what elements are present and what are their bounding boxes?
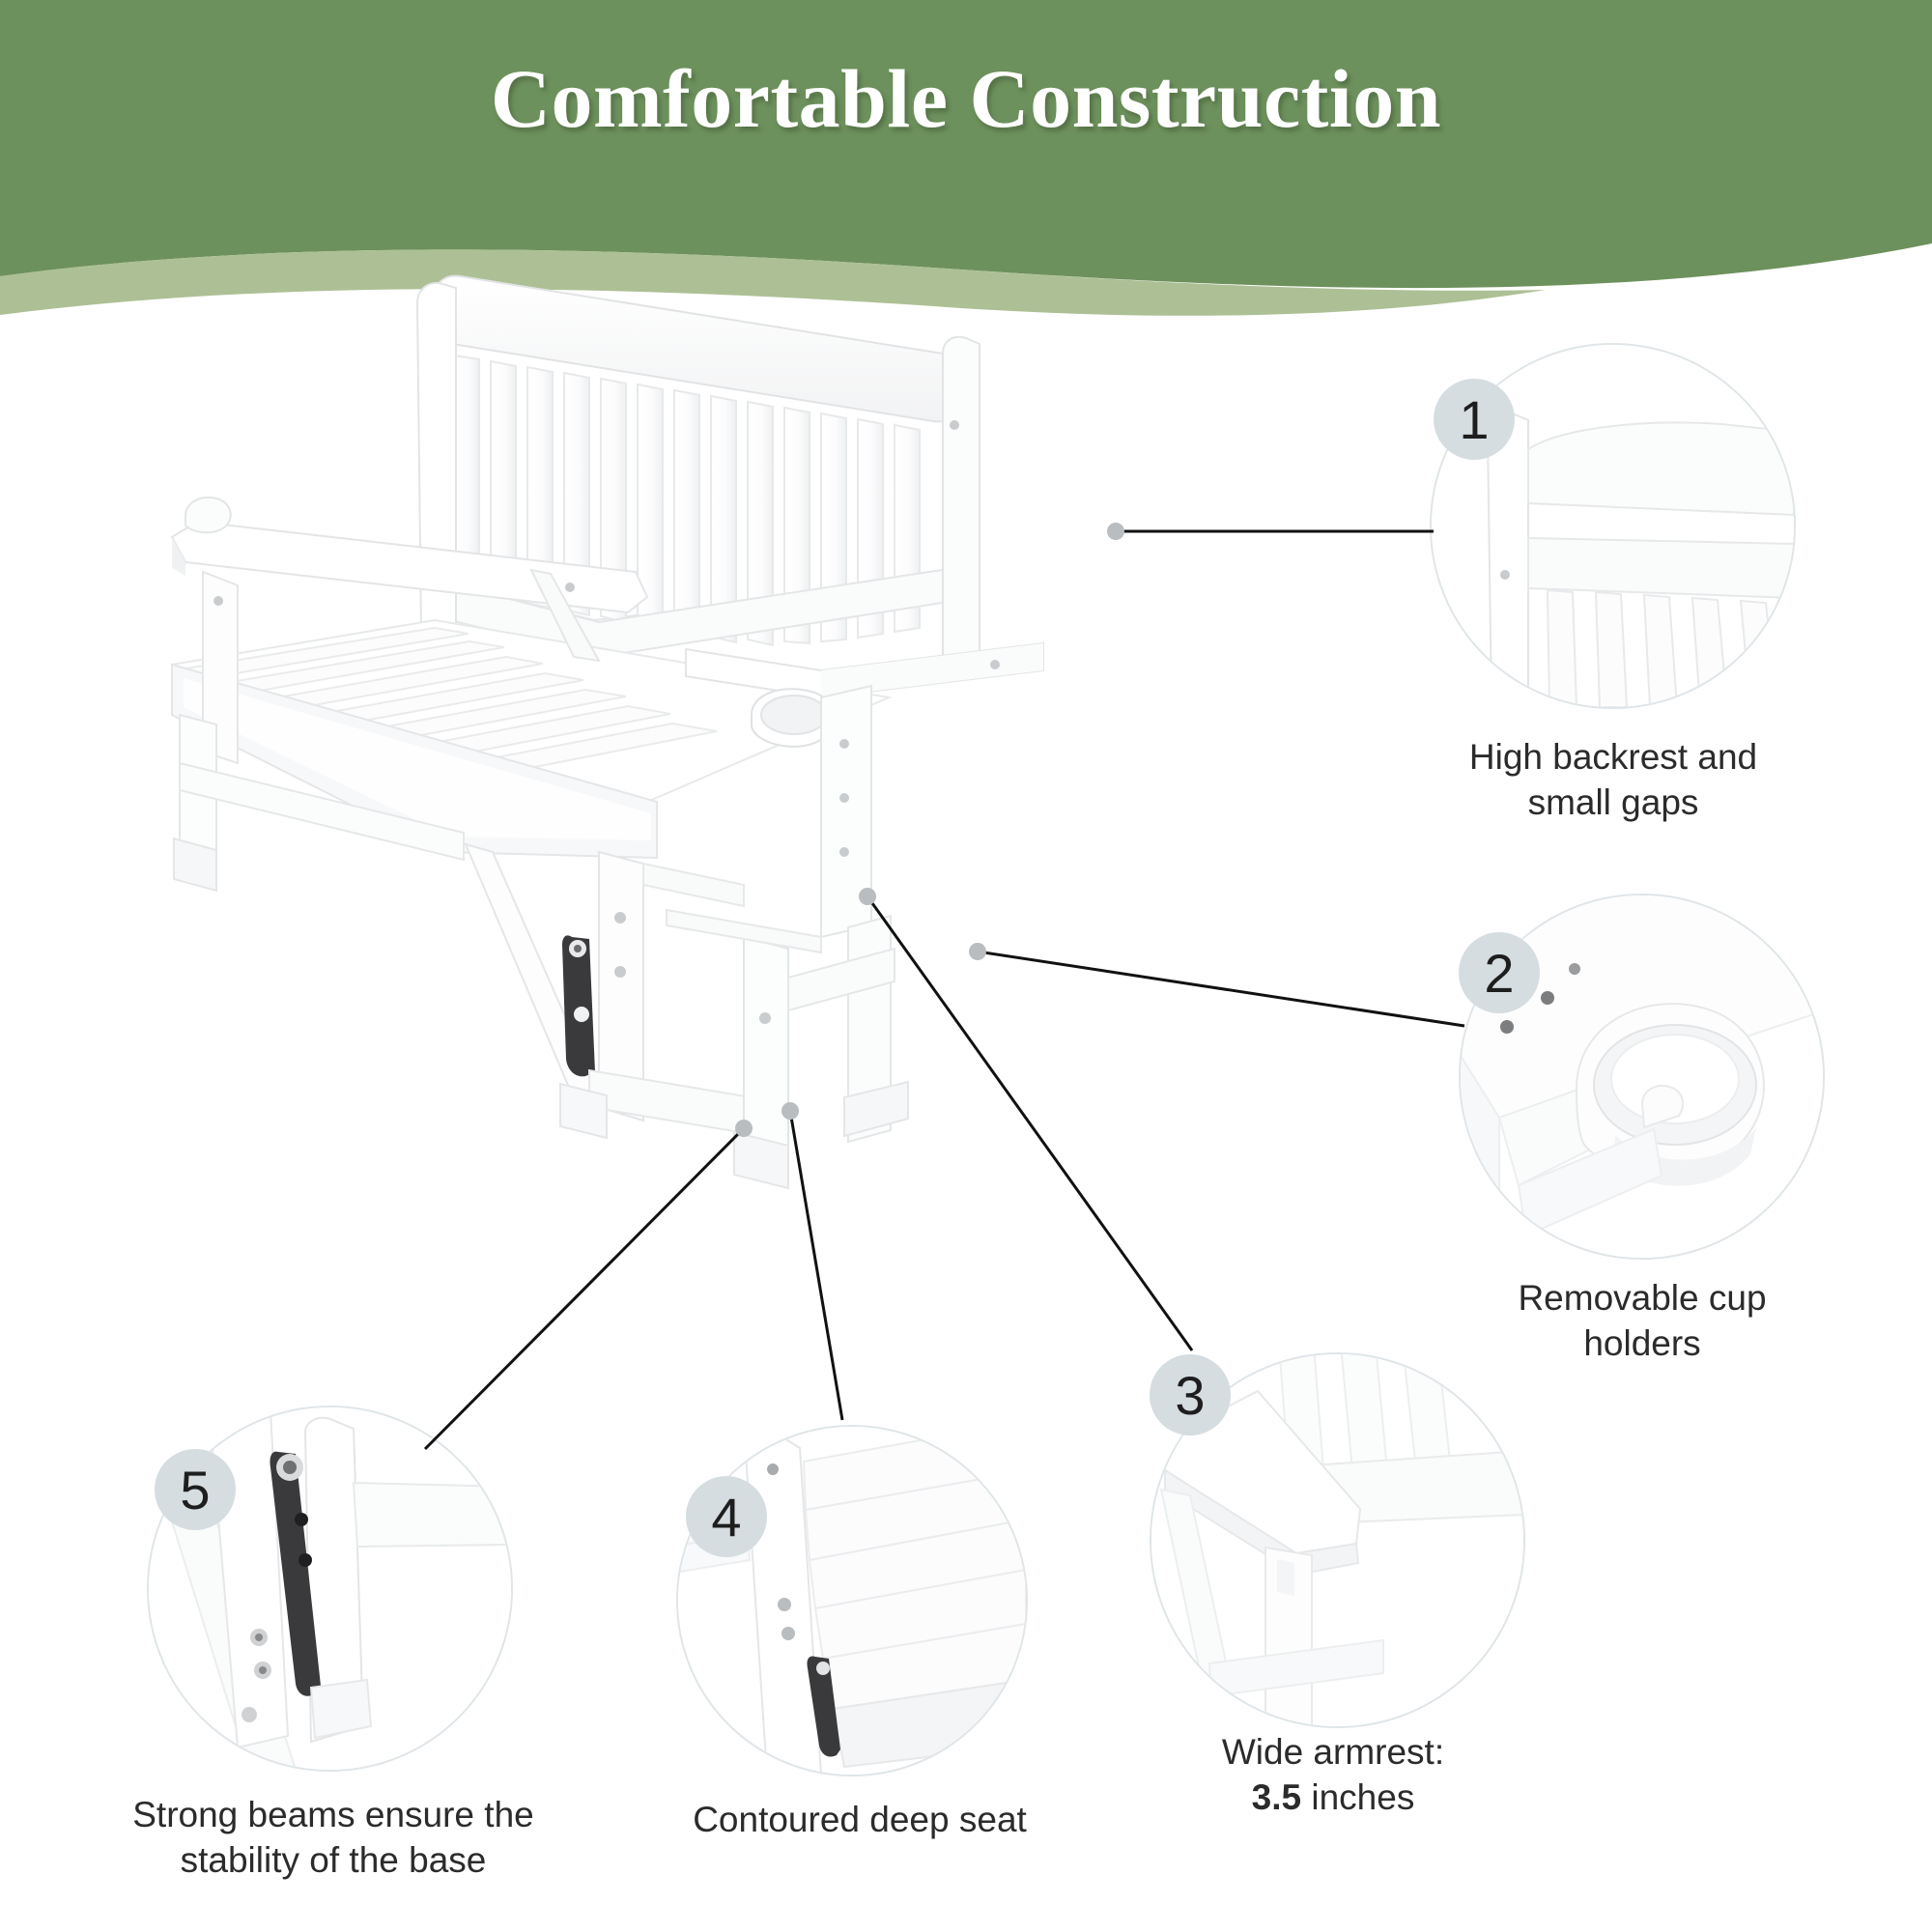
horizontal-beam-detail (354, 1483, 511, 1547)
callout-3-caption-line1: Wide armrest: (1121, 1729, 1546, 1775)
bench-backrest (417, 276, 980, 670)
callout-5-caption-line1: Strong beams ensure the (92, 1792, 575, 1837)
callout-1-number: 1 (1459, 388, 1489, 451)
callout-2-caption-line1: Removable cup (1430, 1275, 1855, 1321)
back-post-right (943, 337, 980, 670)
callout-1-caption-line2: small gaps (1391, 780, 1835, 825)
callout-2-caption: Removable cup holders (1430, 1275, 1855, 1367)
callout-2-caption-line2: holders (1430, 1321, 1855, 1366)
callout-3-measure-unit: inches (1301, 1777, 1414, 1817)
callout-3-number: 3 (1175, 1364, 1205, 1427)
page-title: Comfortable Construction (0, 50, 1932, 147)
callout-1-caption-line1: High backrest and (1391, 734, 1835, 780)
cup-holder-left (185, 497, 231, 532)
callout-5-number: 5 (180, 1459, 210, 1521)
callout-3-badge: 3 (1150, 1354, 1231, 1435)
callout-4-caption: Contoured deep seat (657, 1797, 1063, 1842)
callout-4-number: 4 (711, 1486, 741, 1548)
callout-5-badge: 5 (155, 1449, 236, 1530)
product-illustration (145, 261, 1169, 1352)
infographic-root: Comfortable Construction (0, 0, 1932, 1932)
callout-3-caption: Wide armrest: 3.5 inches (1121, 1729, 1546, 1821)
callout-5-caption-line2: stability of the base (92, 1837, 575, 1883)
arm-post-right (821, 686, 871, 937)
callout-3-measure-value: 3.5 (1252, 1777, 1301, 1817)
callout-2-badge: 2 (1459, 932, 1540, 1013)
callout-1-badge: 1 (1434, 379, 1515, 460)
callout-4-caption-line1: Contoured deep seat (657, 1797, 1063, 1842)
callout-5-caption: Strong beams ensure the stability of the… (92, 1792, 575, 1884)
callout-3-caption-line2: 3.5 inches (1121, 1775, 1546, 1820)
callout-2-number: 2 (1484, 942, 1514, 1005)
callout-4-badge: 4 (686, 1476, 767, 1557)
callout-1-caption: High backrest and small gaps (1391, 734, 1835, 826)
